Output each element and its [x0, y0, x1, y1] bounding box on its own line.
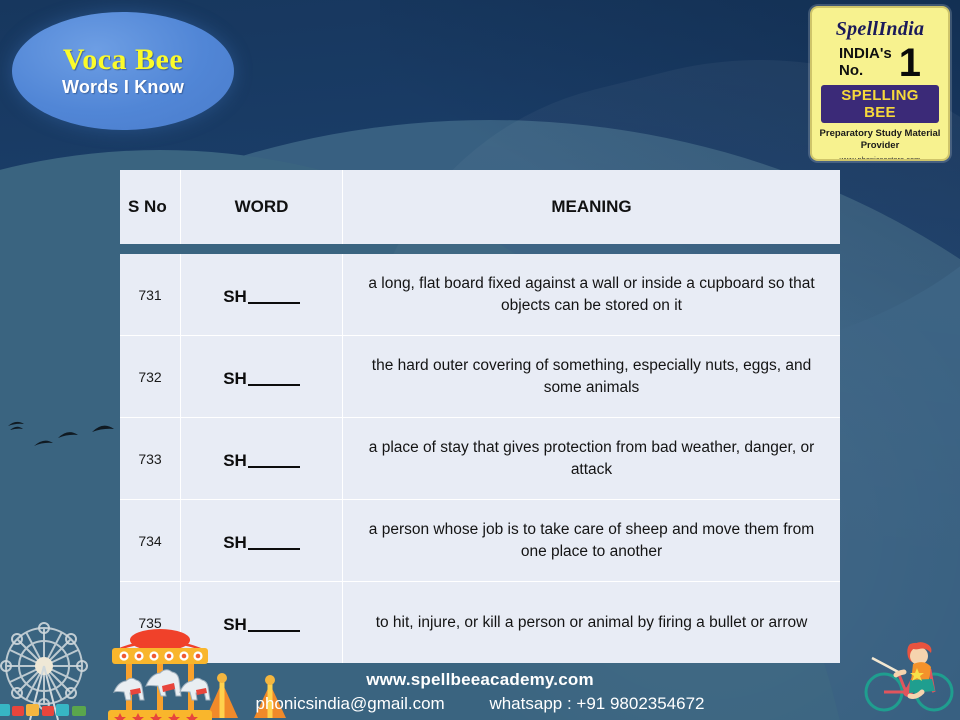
- word-blank-line: [248, 466, 300, 468]
- spellindia-banner: SPELLING BEE: [821, 85, 939, 123]
- cell-meaning: a long, flat board fixed against a wall …: [343, 254, 840, 336]
- spellindia-logo: SpellIndia INDIA's No. 1 SPELLING BEE Pr…: [810, 6, 950, 161]
- cell-meaning: a place of stay that gives protection fr…: [343, 418, 840, 500]
- table-row: 731SHa long, flat board fixed against a …: [120, 254, 840, 336]
- spellindia-url: www.phonicsestore.com: [840, 155, 921, 161]
- words-table-container: S No WORD MEANING 731SHa long, flat boar…: [120, 170, 840, 663]
- header-meaning: MEANING: [343, 170, 840, 244]
- footer-contact-line: phonicsindia@gmail.com whatsapp : +91 98…: [0, 694, 960, 714]
- spellindia-rank-text: INDIA's No.: [839, 46, 892, 80]
- birds-icon: [6, 408, 136, 468]
- word-blank-line: [248, 630, 300, 632]
- word-blank-line: [248, 302, 300, 304]
- slide-canvas: Voca Bee Words I Know SpellIndia INDIA's…: [0, 0, 960, 720]
- word-prefix: SH: [223, 451, 247, 470]
- brand-subtitle: Words I Know: [62, 77, 184, 98]
- words-table-body: 731SHa long, flat board fixed against a …: [120, 254, 840, 663]
- word-prefix: SH: [223, 533, 247, 552]
- footer-website[interactable]: www.spellbeeacademy.com: [0, 670, 960, 690]
- spellindia-tagline: Preparatory Study Material Provider: [816, 128, 944, 152]
- word-blank-line: [248, 384, 300, 386]
- footer-email[interactable]: phonicsindia@gmail.com: [255, 694, 444, 713]
- word-prefix: SH: [223, 287, 247, 306]
- spellindia-rank-number: 1: [899, 45, 921, 81]
- words-table-body-wrapper: 731SHa long, flat board fixed against a …: [120, 254, 840, 663]
- spellindia-brand-name: SpellIndia: [836, 18, 925, 41]
- header-word: WORD: [181, 170, 343, 244]
- spellindia-rank-row: INDIA's No. 1: [816, 45, 944, 81]
- cell-word: SH: [181, 336, 343, 418]
- cell-word: SH: [181, 254, 343, 336]
- table-header-row: S No WORD MEANING: [120, 170, 840, 244]
- voca-bee-badge: Voca Bee Words I Know: [12, 12, 234, 130]
- footer: www.spellbeeacademy.com phonicsindia@gma…: [0, 670, 960, 714]
- spellindia-no-label: No.: [839, 63, 892, 80]
- word-blank-line: [248, 548, 300, 550]
- footer-whatsapp: whatsapp : +91 9802354672: [489, 694, 704, 713]
- word-prefix: SH: [223, 615, 247, 634]
- words-table-head: S No WORD MEANING: [120, 170, 840, 244]
- cell-sno: 731: [120, 254, 181, 336]
- table-header-gap: [120, 244, 840, 254]
- cell-sno: 733: [120, 418, 181, 500]
- table-row: 734SHa person whose job is to take care …: [120, 500, 840, 582]
- words-table: S No WORD MEANING: [120, 170, 840, 244]
- table-row: 732SHthe hard outer covering of somethin…: [120, 336, 840, 418]
- cell-word: SH: [181, 500, 343, 582]
- word-prefix: SH: [223, 369, 247, 388]
- header-sno: S No: [120, 170, 181, 244]
- cell-sno: 732: [120, 336, 181, 418]
- brand-title: Voca Bee: [63, 44, 183, 76]
- cell-meaning: to hit, injure, or kill a person or anim…: [343, 582, 840, 663]
- table-row: 733SHa place of stay that gives protecti…: [120, 418, 840, 500]
- cell-meaning: the hard outer covering of something, es…: [343, 336, 840, 418]
- table-row: 735SHto hit, injure, or kill a person or…: [120, 582, 840, 663]
- cell-sno: 734: [120, 500, 181, 582]
- cell-word: SH: [181, 418, 343, 500]
- spellindia-indias-label: INDIA's: [839, 46, 892, 63]
- cell-meaning: a person whose job is to take care of sh…: [343, 500, 840, 582]
